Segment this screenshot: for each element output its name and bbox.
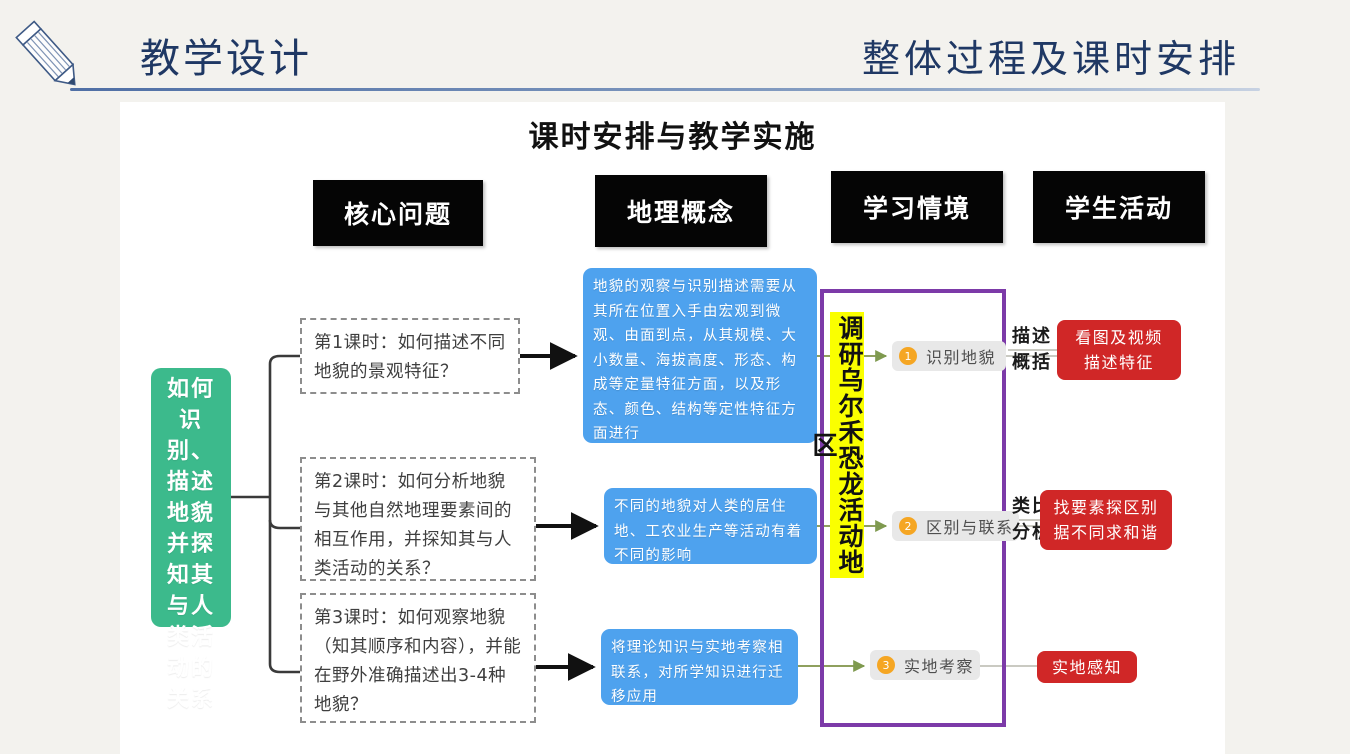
column-header-geography-concept: 地理概念 [595,175,767,247]
pencil-icon [8,18,92,96]
lesson-box-3: 第3课时：如何观察地貌（知其顺序和内容），并能在野外准确描述出3-4种地貌？ [300,593,536,723]
method-label-1: 描述 概括 [1012,324,1062,376]
slide-header: 教学设计 整体过程及课时安排 [0,0,1350,102]
activity-node-3[interactable]: 3 实地考察 [870,650,980,680]
badge-number-icon: 3 [877,656,895,674]
section-title: 整体过程及课时安排 [862,28,1240,83]
column-header-learning-situation: 学习情境 [831,171,1003,243]
column-header-core-question: 核心问题 [313,180,483,246]
concept-box-1: 地貌的观察与识别描述需要从其所在位置入手由宏观到微观、由面到点，从其规模、大小数… [583,268,817,443]
outcome-box-1: 看图及视频 描述特征 [1057,320,1181,380]
outcome-line1: 看图及视频 [1075,325,1163,350]
method-label-line2: 概括 [1012,350,1062,376]
badge-number-icon: 1 [899,347,917,365]
outcome-line2: 描述特征 [1084,350,1154,375]
badge-number-icon: 2 [899,517,917,535]
concept-box-3: 将理论知识与实地考察相联系，对所学知识进行迁移应用 [601,629,798,705]
root-node: 如何识别、描述地貌并探知其与人类活动的关系 [151,368,231,627]
diagram-title: 课时安排与教学实施 [120,112,1225,156]
concept-box-2: 不同的地貌对人类的居住地、工农业生产等活动有着不同的影响 [604,488,817,564]
activity-node-1[interactable]: 1 识别地貌 [892,341,1006,371]
method-label-line1: 描述 [1012,324,1062,350]
activity-node-2[interactable]: 2 区别与联系 [892,511,1019,541]
lesson-box-2: 第2课时：如何分析地貌与其他自然地理要素间的相互作用，并探知其与人类活动的关系？ [300,457,536,581]
situation-label: 调研乌尔禾恐龙活动地区 [830,312,864,578]
outcome-line2: 据不同求和谐 [1053,520,1158,545]
outcome-line1: 实地感知 [1052,655,1122,680]
column-header-student-activity: 学生活动 [1033,171,1205,243]
outcome-line1: 找要素探区别 [1053,495,1158,520]
header-divider [70,88,1260,91]
activity-node-label: 区别与联系 [926,514,1014,538]
outcome-box-3: 实地感知 [1037,651,1137,683]
lesson-box-1: 第1课时：如何描述不同地貌的景观特征？ [300,318,520,394]
activity-node-label: 识别地貌 [926,344,996,368]
diagram-panel: 课时安排与教学实施 核心问题 地理概念 学习情境 学生活动 [120,102,1225,754]
activity-node-label: 实地考察 [904,653,974,677]
outcome-box-2: 找要素探区别 据不同求和谐 [1040,490,1172,550]
page-title: 教学设计 [140,26,312,84]
